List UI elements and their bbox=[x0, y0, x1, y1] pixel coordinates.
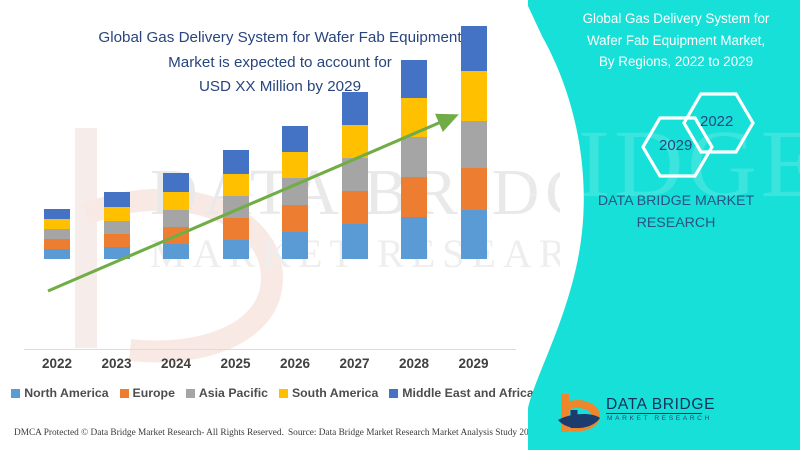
bar-2028 bbox=[401, 60, 427, 259]
brand-title-line-2: Wafer Fab Equipment Market, bbox=[560, 30, 792, 52]
bar-segment-north-america-2023 bbox=[104, 247, 130, 259]
bar-segment-north-america-2028 bbox=[401, 217, 427, 259]
bar-segment-middle-east-and-africa-2022 bbox=[44, 209, 70, 219]
bar-segment-europe-2025 bbox=[223, 218, 249, 240]
x-tick-label-2027: 2027 bbox=[325, 356, 385, 371]
bar-2026 bbox=[282, 126, 308, 259]
legend-label-asia-pacific: Asia Pacific bbox=[199, 386, 268, 400]
hexagon-2029-label: 2029 bbox=[659, 137, 692, 154]
legend-item-europe[interactable]: Europe bbox=[120, 386, 175, 400]
bar-segment-middle-east-and-africa-2025 bbox=[223, 150, 249, 174]
legend-label-north-america: North America bbox=[24, 386, 108, 400]
bar-segment-north-america-2022 bbox=[44, 249, 70, 259]
x-tick-label-2028: 2028 bbox=[384, 356, 444, 371]
dmca-footer-text: DMCA Protected © Data Bridge Market Rese… bbox=[14, 428, 284, 438]
legend-item-south-america[interactable]: South America bbox=[279, 386, 378, 400]
x-tick-label-2023: 2023 bbox=[87, 356, 147, 371]
legend-swatch-middle-east-and-africa bbox=[389, 389, 398, 398]
bar-segment-asia-pacific-2026 bbox=[282, 178, 308, 205]
brand-title-line-3: By Regions, 2022 to 2029 bbox=[560, 51, 792, 73]
bar-segment-asia-pacific-2023 bbox=[104, 221, 130, 234]
legend-item-asia-pacific[interactable]: Asia Pacific bbox=[186, 386, 268, 400]
bar-2023 bbox=[104, 192, 130, 259]
legend-swatch-europe bbox=[120, 389, 129, 398]
bar-segment-europe-2022 bbox=[44, 239, 70, 249]
bar-2027 bbox=[342, 92, 368, 259]
bar-segment-south-america-2028 bbox=[401, 98, 427, 137]
data-bridge-logo: DATA BRIDGE MARKET RESEARCH bbox=[556, 392, 746, 436]
bar-segment-south-america-2027 bbox=[342, 125, 368, 158]
hexagon-2022-label: 2022 bbox=[700, 113, 733, 130]
x-tick-label-2024: 2024 bbox=[146, 356, 206, 371]
bar-segment-europe-2024 bbox=[163, 227, 189, 244]
legend-swatch-north-america bbox=[11, 389, 20, 398]
bar-segment-europe-2029 bbox=[461, 168, 487, 210]
brand-name-text: DATA BRIDGE MARKET RESEARCH bbox=[560, 190, 792, 234]
bar-segment-north-america-2026 bbox=[282, 232, 308, 259]
brand-name-line-1: DATA BRIDGE MARKET bbox=[560, 190, 792, 212]
bar-segment-south-america-2023 bbox=[104, 207, 130, 221]
logo-b-mark-icon bbox=[556, 394, 602, 434]
bar-segment-europe-2027 bbox=[342, 191, 368, 224]
bar-segment-europe-2028 bbox=[401, 177, 427, 217]
bar-segment-middle-east-and-africa-2023 bbox=[104, 192, 130, 207]
legend-swatch-asia-pacific bbox=[186, 389, 195, 398]
bar-segment-south-america-2022 bbox=[44, 219, 70, 229]
bar-2025 bbox=[223, 150, 249, 259]
bar-segment-south-america-2024 bbox=[163, 192, 189, 210]
x-tick-label-2022: 2022 bbox=[27, 356, 87, 371]
bar-2024 bbox=[163, 173, 189, 259]
logo-divider bbox=[606, 413, 702, 414]
infographic-slide: DATA BRIDGE MARKET RESEARCH Global Gas D… bbox=[0, 0, 800, 450]
bar-segment-middle-east-and-africa-2029 bbox=[461, 26, 487, 71]
bar-segment-asia-pacific-2022 bbox=[44, 229, 70, 239]
legend-item-middle-east-and-africa[interactable]: Middle East and Africa bbox=[389, 386, 533, 400]
chart-panel: DATA BRIDGE MARKET RESEARCH Global Gas D… bbox=[0, 0, 560, 450]
bar-segment-middle-east-and-africa-2026 bbox=[282, 126, 308, 152]
bar-segment-asia-pacific-2025 bbox=[223, 196, 249, 218]
legend-label-south-america: South America bbox=[292, 386, 378, 400]
bar-segment-south-america-2026 bbox=[282, 152, 308, 178]
bar-segment-north-america-2029 bbox=[461, 210, 487, 259]
bar-segment-asia-pacific-2028 bbox=[401, 137, 427, 177]
legend-item-north-america[interactable]: North America bbox=[11, 386, 108, 400]
bar-segment-middle-east-and-africa-2028 bbox=[401, 60, 427, 98]
x-tick-label-2025: 2025 bbox=[206, 356, 266, 371]
brand-panel: RIDGE Global Gas Delivery System for Waf… bbox=[528, 0, 800, 450]
bar-segment-asia-pacific-2024 bbox=[163, 210, 189, 227]
bar-segment-middle-east-and-africa-2027 bbox=[342, 92, 368, 125]
brand-panel-title: Global Gas Delivery System for Wafer Fab… bbox=[560, 8, 792, 73]
x-tick-label-2029: 2029 bbox=[444, 356, 504, 371]
chart-legend: North AmericaEuropeAsia PacificSouth Ame… bbox=[0, 386, 545, 400]
stacked-bar-plot bbox=[0, 0, 560, 360]
year-hexagon-group: 2022 2029 bbox=[560, 90, 792, 182]
bar-segment-north-america-2024 bbox=[163, 244, 189, 259]
legend-swatch-south-america bbox=[279, 389, 288, 398]
logo-subtitle: MARKET RESEARCH bbox=[607, 415, 712, 422]
x-axis-tick-labels: 20222023202420252026202720282029 bbox=[0, 356, 560, 378]
x-axis-line bbox=[24, 349, 516, 350]
bar-segment-asia-pacific-2029 bbox=[461, 121, 487, 168]
source-footer-text: Source: Data Bridge Market Research Mark… bbox=[288, 428, 538, 438]
brand-title-line-1: Global Gas Delivery System for bbox=[560, 8, 792, 30]
bar-2022 bbox=[44, 209, 70, 259]
bar-2029 bbox=[461, 26, 487, 259]
legend-label-middle-east-and-africa: Middle East and Africa bbox=[402, 386, 533, 400]
bar-segment-north-america-2027 bbox=[342, 224, 368, 259]
legend-label-europe: Europe bbox=[133, 386, 175, 400]
bar-segment-europe-2023 bbox=[104, 234, 130, 247]
bar-segment-europe-2026 bbox=[282, 205, 308, 232]
x-tick-label-2026: 2026 bbox=[265, 356, 325, 371]
bar-segment-north-america-2025 bbox=[223, 240, 249, 259]
bar-segment-middle-east-and-africa-2024 bbox=[163, 173, 189, 192]
bar-segment-south-america-2025 bbox=[223, 174, 249, 196]
logo-title: DATA BRIDGE bbox=[606, 396, 715, 414]
bar-segment-asia-pacific-2027 bbox=[342, 158, 368, 191]
brand-name-line-2: RESEARCH bbox=[560, 212, 792, 234]
bar-segment-south-america-2029 bbox=[461, 71, 487, 121]
hexagon-outlines-icon bbox=[560, 90, 792, 182]
